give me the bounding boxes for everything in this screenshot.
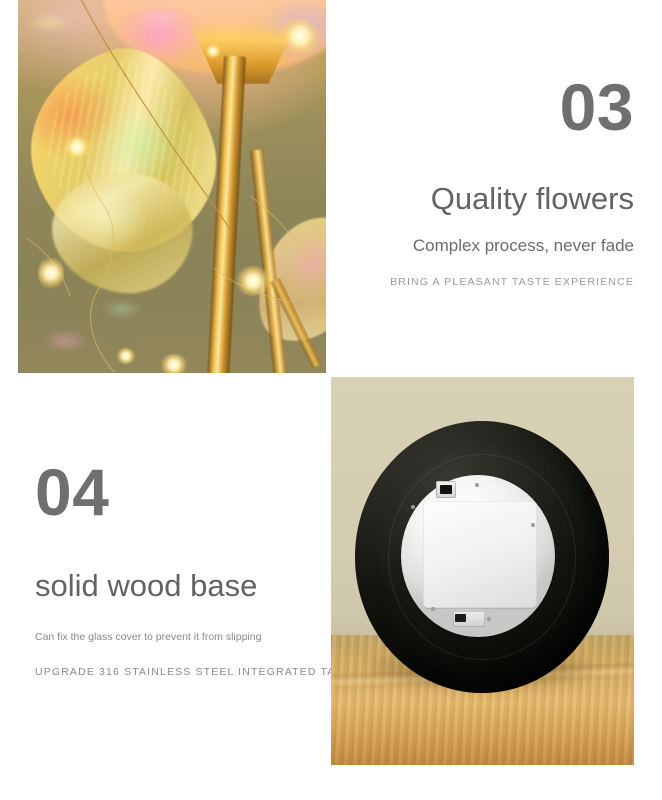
section-04-subline: Can fix the glass cover to prevent it fr… [35,631,335,644]
section-04-headline: solid wood base [35,569,335,603]
screw-icon [531,523,535,527]
section-03-headline: Quality flowers [304,182,634,216]
battery-compartment-plate [401,475,555,637]
power-switch-icon [453,611,485,627]
screw-icon [475,483,479,487]
led-light-3 [236,266,270,296]
photo-solid-wood-base [331,377,634,765]
usb-charging-port-icon [436,481,456,498]
section-04-caption: UPGRADE 316 STAINLESS STEEL INTEGRATED T… [35,666,335,679]
rose-bokeh-4 [102,300,142,318]
led-light-5 [160,354,188,373]
rose-bokeh-2 [134,6,186,30]
section-03-text: 03 Quality flowers Complex process, neve… [304,74,634,289]
section-04-number: 04 [35,459,335,525]
section-04-text: 04 solid wood base Can fix the glass cov… [35,459,335,678]
black-wood-base [355,421,609,693]
photo-quality-flowers [18,0,326,373]
led-light-4 [280,18,320,54]
section-03-number: 03 [304,74,634,140]
led-light-6 [116,348,136,364]
screw-icon [411,505,415,509]
section-03-caption: BRING A PLEASANT TASTE EXPERIENCE [304,276,634,289]
screw-icon [431,607,435,611]
section-03-subline: Complex process, never fade [304,236,634,256]
led-light-2 [38,256,64,290]
rose-bokeh-1 [28,14,72,32]
screw-icon [487,617,491,621]
product-detail-page: 03 Quality flowers Complex process, neve… [0,0,662,800]
battery-compartment-lid [423,501,537,608]
rose-bokeh-3 [42,330,88,352]
led-light-1 [62,136,92,158]
led-light-7 [204,44,222,58]
